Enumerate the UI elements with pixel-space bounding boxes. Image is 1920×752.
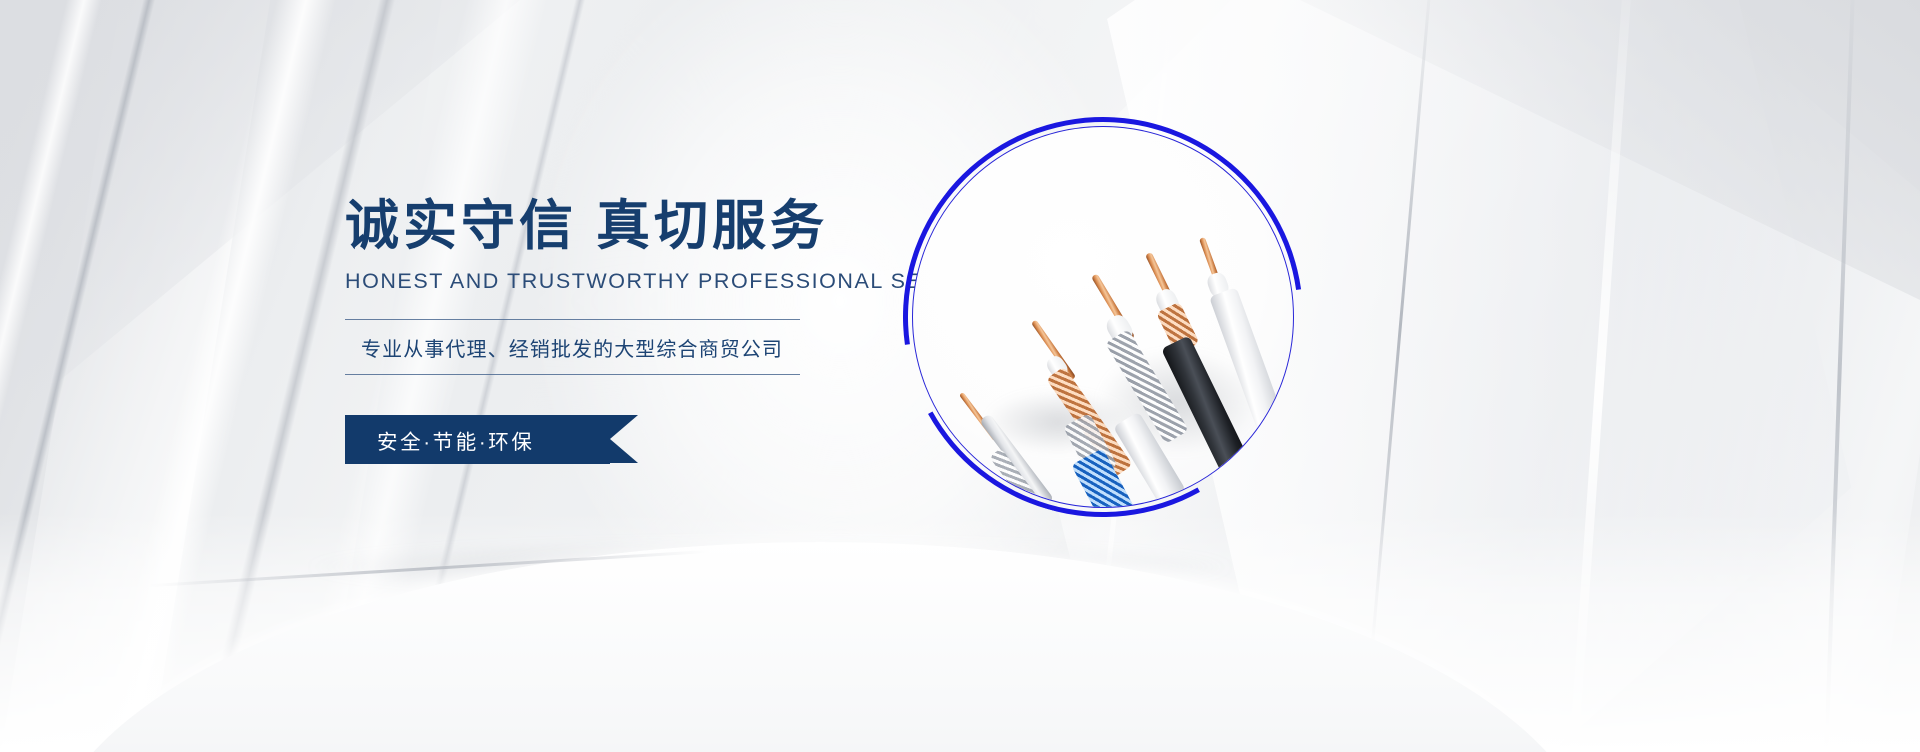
feature-badge-label: 安全·节能·环保 [377,425,534,455]
banner-subheadline: HONEST AND TRUSTWORTHY PROFESSIONAL SERV… [345,269,905,294]
product-medallion [912,126,1294,508]
banner-tagline: 专业从事代理、经销批发的大型综合商贸公司 [345,320,800,374]
banner-headline: 诚实守信 真切服务 [345,196,905,256]
banner-text-block: 诚实守信 真切服务 HONEST AND TRUSTWORTHY PROFESS… [345,196,905,464]
arc-accent-secondary-icon [856,70,1351,565]
tagline-divider-bottom [345,374,800,375]
tagline-divider-top [345,319,800,320]
hero-banner: 诚实守信 真切服务 HONEST AND TRUSTWORTHY PROFESS… [0,0,1920,752]
feature-badge[interactable]: 安全·节能·环保 [345,415,610,464]
tagline-block: 专业从事代理、经销批发的大型综合商贸公司 [345,319,800,375]
